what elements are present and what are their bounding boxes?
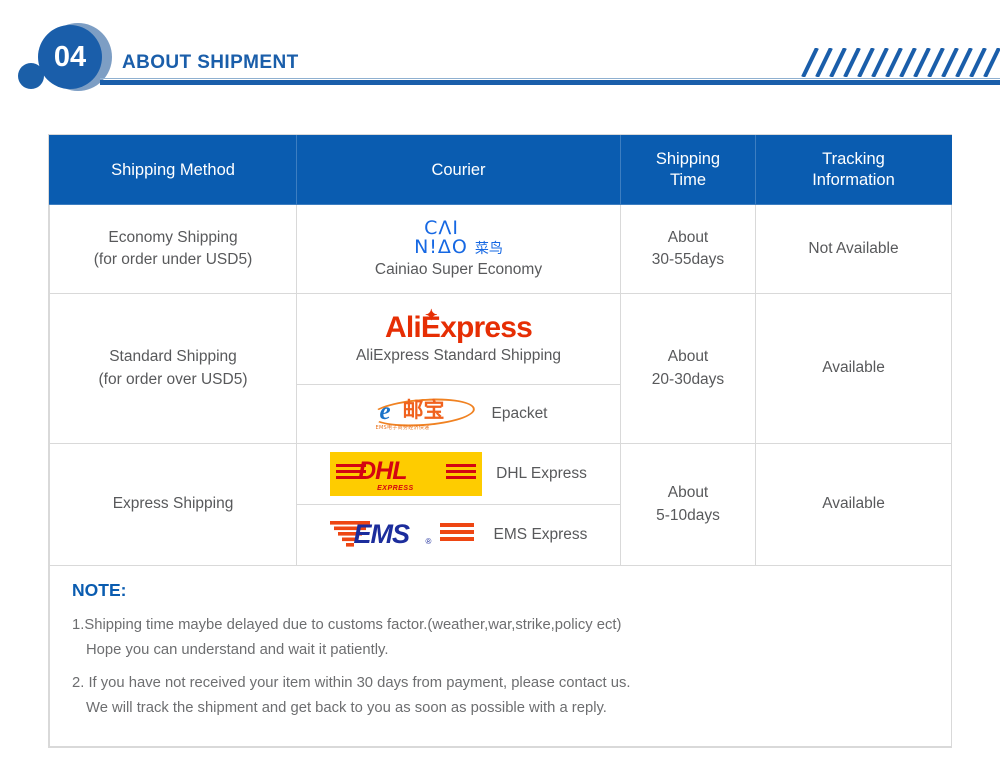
cell-courier-aliexpress: ✦ AliExpress AliExpress Standard Shippin… — [297, 294, 621, 385]
header-number: 04 — [54, 43, 86, 72]
time-economy-line1: About — [621, 227, 755, 249]
method-economy-line2: (for order under USD5) — [50, 249, 296, 271]
shipping-table: Shipping Method Courier Shipping Time Tr… — [49, 135, 952, 747]
courier-caption-ems: EMS Express — [494, 526, 588, 544]
table-row-economy: Economy Shipping (for order under USD5) … — [50, 205, 952, 294]
table-row-express-dhl: Express Shipping DHL EXPRESS DHL Express… — [50, 444, 952, 505]
aliexpress-sparkle-icon: ✦ — [425, 308, 437, 323]
cell-tracking-economy: Not Available — [756, 205, 952, 294]
table-row-note: NOTE: 1.Shipping time maybe delayed due … — [50, 566, 952, 747]
courier-caption-epacket: Epacket — [491, 405, 547, 423]
method-standard-line1: Standard Shipping — [50, 346, 296, 368]
column-header-shipping-time-line2: Time — [621, 170, 755, 191]
note-item-1-line2: Hope you can understand and wait it pati… — [72, 638, 951, 663]
time-standard-line1: About — [621, 346, 755, 368]
cell-courier-cainiao: CΛI N!ΔO 菜鸟 Cainiao Super Economy — [297, 205, 621, 294]
column-header-shipping-time-line1: Shipping — [621, 149, 755, 170]
cell-time-express: About 5-10days — [621, 444, 756, 566]
table-row-standard-aliexpress: Standard Shipping (for order over USD5) … — [50, 294, 952, 385]
time-express-line1: About — [621, 482, 755, 504]
aliexpress-logo: ✦ AliExpress — [385, 313, 532, 343]
epacket-logo-chinese: 邮宝 — [402, 400, 444, 421]
column-header-shipping-method: Shipping Method — [50, 136, 297, 205]
dhl-logo: DHL EXPRESS — [330, 452, 482, 496]
dhl-logo-subtext: EXPRESS — [377, 485, 414, 492]
dhl-logo-text: DHL — [358, 459, 406, 484]
courier-caption-aliexpress: AliExpress Standard Shipping — [356, 347, 561, 365]
cell-tracking-standard: Available — [756, 294, 952, 444]
ems-registered-icon: ® — [426, 537, 432, 546]
table-header-row: Shipping Method Courier Shipping Time Tr… — [50, 136, 952, 205]
cell-method-standard: Standard Shipping (for order over USD5) — [50, 294, 297, 444]
note-item-2: 2. If you have not received your item wi… — [72, 671, 951, 721]
ems-logo: EMS ® — [330, 515, 480, 555]
cainiao-logo: CΛI N!ΔO 菜鸟 — [414, 219, 503, 257]
note-item-2-line1: 2. If you have not received your item wi… — [72, 671, 951, 696]
cell-time-economy: About 30-55days — [621, 205, 756, 294]
cell-courier-dhl: DHL EXPRESS DHL Express — [297, 444, 621, 505]
cainiao-logo-latin: N!ΔO — [414, 236, 468, 258]
epacket-logo: e 邮宝 EMS电子商务经济快递 — [369, 396, 477, 432]
note-item-1-line1: 1.Shipping time maybe delayed due to cus… — [72, 613, 951, 638]
courier-caption-cainiao: Cainiao Super Economy — [375, 261, 542, 279]
method-standard-line2: (for order over USD5) — [50, 369, 296, 391]
ems-logo-text: EMS — [354, 521, 410, 548]
note-item-2-line2: We will track the shipment and get back … — [72, 696, 951, 721]
cell-courier-epacket: e 邮宝 EMS电子商务经济快递 Epacket — [297, 385, 621, 444]
header-number-badge: 04 — [38, 25, 102, 89]
section-header: 04 ABOUT SHIPMENT — [0, 0, 1000, 108]
header-diagonal-stripes-icon — [795, 48, 1000, 77]
column-header-shipping-time: Shipping Time — [621, 136, 756, 205]
cell-tracking-express: Available — [756, 444, 952, 566]
column-header-tracking-information: Tracking Information — [756, 136, 952, 205]
note-item-1: 1.Shipping time maybe delayed due to cus… — [72, 613, 951, 663]
aliexpress-logo-text: AliExpress — [385, 311, 532, 344]
epacket-logo-e: e — [379, 399, 390, 424]
cainiao-logo-chinese: 菜鸟 — [475, 241, 503, 257]
column-header-courier: Courier — [297, 136, 621, 205]
time-standard-line2: 20-30days — [621, 369, 755, 391]
dhl-speed-lines-right-icon — [446, 464, 476, 478]
shipping-table-container: Shipping Method Courier Shipping Time Tr… — [48, 134, 952, 748]
column-header-tracking-line1: Tracking — [756, 149, 951, 170]
ems-bar-stripes-icon — [440, 523, 474, 545]
cainiao-logo-line2: N!ΔO 菜鸟 — [414, 238, 503, 257]
method-economy-line1: Economy Shipping — [50, 227, 296, 249]
note-section: NOTE: 1.Shipping time maybe delayed due … — [50, 566, 952, 747]
column-header-tracking-line2: Information — [756, 170, 951, 191]
header-rule-thin — [100, 78, 1000, 79]
cell-method-economy: Economy Shipping (for order under USD5) — [50, 205, 297, 294]
time-express-line2: 5-10days — [621, 505, 755, 527]
note-title: NOTE: — [72, 580, 951, 601]
method-express-line1: Express Shipping — [50, 493, 296, 515]
epacket-logo-subtext: EMS电子商务经济快递 — [375, 424, 429, 431]
page-title: ABOUT SHIPMENT — [122, 52, 299, 74]
cell-method-express: Express Shipping — [50, 444, 297, 566]
cell-time-standard: About 20-30days — [621, 294, 756, 444]
table-header: Shipping Method Courier Shipping Time Tr… — [50, 136, 952, 205]
time-economy-line2: 30-55days — [621, 249, 755, 271]
courier-caption-dhl: DHL Express — [496, 465, 587, 483]
header-rule-thick — [100, 80, 1000, 85]
table-body: Economy Shipping (for order under USD5) … — [50, 205, 952, 747]
cell-courier-ems: EMS ® EMS Express — [297, 505, 621, 566]
